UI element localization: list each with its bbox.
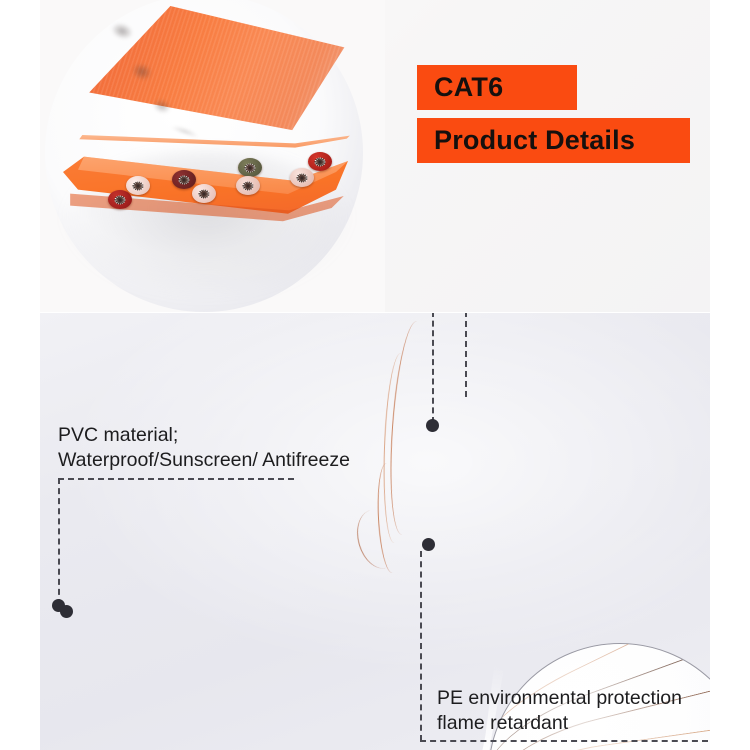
- callout-line-pvc-vertical: [58, 478, 60, 605]
- callout-line-pe-horizontal: [420, 740, 708, 742]
- conductor-4b: [308, 152, 332, 171]
- bottom-diagram-panel: [40, 313, 710, 750]
- banner-cat6: CAT6: [417, 65, 577, 110]
- conductor-core: [243, 181, 254, 190]
- conductor-3a: [238, 158, 262, 177]
- conductor-core: [245, 163, 256, 172]
- callout-line-pvc-horizontal: [58, 478, 294, 480]
- conductor-core: [199, 189, 210, 198]
- conductor-1b: [126, 176, 150, 195]
- conductor-4a: [290, 168, 314, 187]
- callout-line-lens-vertical: [465, 313, 467, 397]
- product-detail-image: CAT6 Product Details: [0, 0, 750, 750]
- conductor-core: [297, 173, 308, 182]
- callout-line-strand-vertical: [432, 313, 434, 423]
- conductor-core: [315, 157, 326, 166]
- callout-label-pe: PE environmental protection flame retard…: [437, 686, 682, 736]
- conductor-1a: [108, 190, 132, 209]
- conductor-2a: [172, 170, 196, 189]
- callout-line-pe-vertical: [420, 551, 422, 741]
- callout-dot-strand: [426, 419, 439, 432]
- conductor-core: [133, 181, 144, 190]
- cable-cross-section-photo: [40, 0, 385, 312]
- banner-cat6-label: CAT6: [434, 72, 503, 103]
- callout-dot-jacket: [60, 605, 73, 618]
- conductor-core: [179, 175, 190, 184]
- banner-product-details: Product Details: [417, 118, 690, 163]
- callout-label-pvc: PVC material; Waterproof/Sunscreen/ Anti…: [58, 423, 350, 473]
- banner-product-details-label: Product Details: [434, 125, 635, 156]
- conductor-core: [115, 195, 126, 204]
- top-photo-panel: CAT6 Product Details: [40, 0, 710, 312]
- cable-illustration: [40, 0, 385, 312]
- conductor-2b: [192, 184, 216, 203]
- callout-dot-split: [422, 538, 435, 551]
- conductor-3b: [236, 176, 260, 195]
